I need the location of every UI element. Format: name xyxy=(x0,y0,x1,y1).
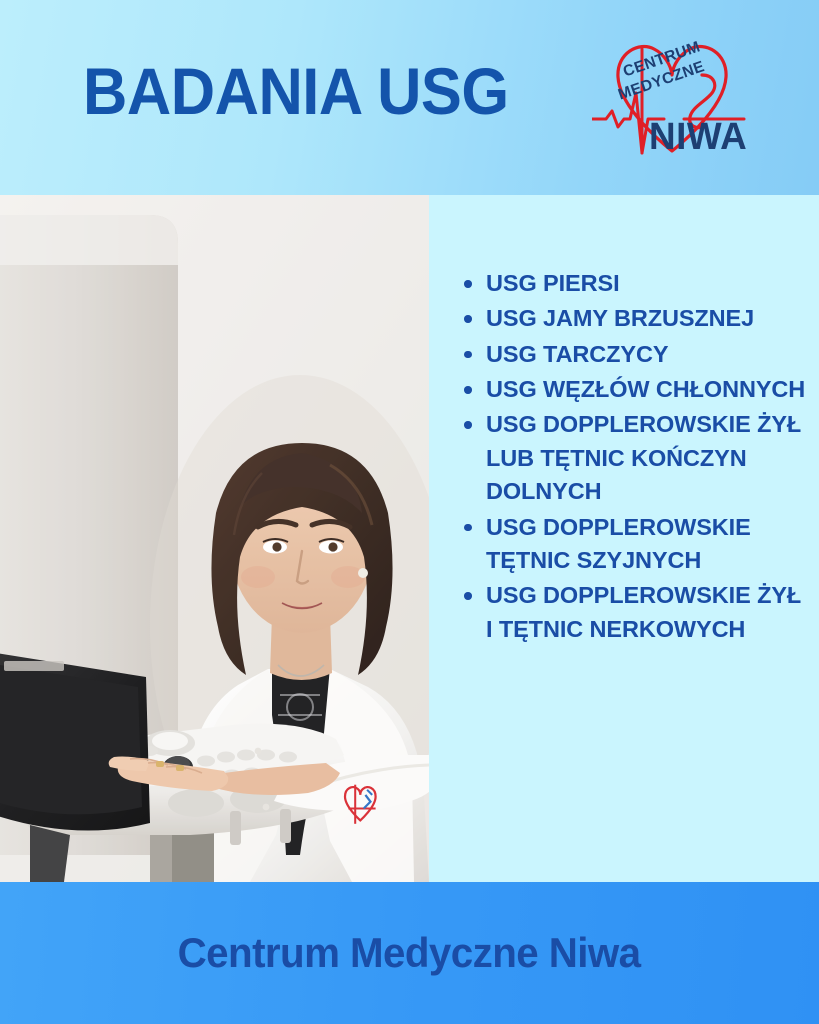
services-panel: USG PIERSI USG JAMY BRZUSZNEJ USG TARCZY… xyxy=(429,195,819,882)
photo-illustration xyxy=(0,195,429,882)
poster-header: BADANIA USG CENTRUM MEDYCZNE NIWA xyxy=(0,0,819,195)
logo-heart-ecg-icon xyxy=(592,33,752,163)
list-item: USG DOPPLEROWSKIE ŻYŁ I TĘTNIC NERKOWYCH xyxy=(459,579,807,646)
footer-brand-name: Centrum Medyczne Niwa xyxy=(178,929,641,977)
list-item: USG JAMY BRZUSZNEJ xyxy=(459,302,807,335)
services-list: USG PIERSI USG JAMY BRZUSZNEJ USG TARCZY… xyxy=(459,267,807,646)
poster-body: USG PIERSI USG JAMY BRZUSZNEJ USG TARCZY… xyxy=(0,195,819,882)
page-title: BADANIA USG xyxy=(83,58,509,124)
list-item: USG DOPPLEROWSKIE TĘTNIC SZYJNYCH xyxy=(459,511,807,578)
list-item: USG WĘZŁÓW CHŁONNYCH xyxy=(459,373,807,406)
centrum-medyczne-niwa-logo: CENTRUM MEDYCZNE NIWA xyxy=(592,33,752,163)
poster-footer: Centrum Medyczne Niwa xyxy=(0,882,819,1024)
list-item: USG PIERSI xyxy=(459,267,807,300)
poster: BADANIA USG CENTRUM MEDYCZNE NIWA xyxy=(0,0,819,1024)
list-item: USG TARCZYCY xyxy=(459,338,807,371)
doctor-ultrasound-photo xyxy=(0,195,429,882)
list-item: USG DOPPLEROWSKIE ŻYŁ LUB TĘTNIC KOŃCZYN… xyxy=(459,408,807,508)
